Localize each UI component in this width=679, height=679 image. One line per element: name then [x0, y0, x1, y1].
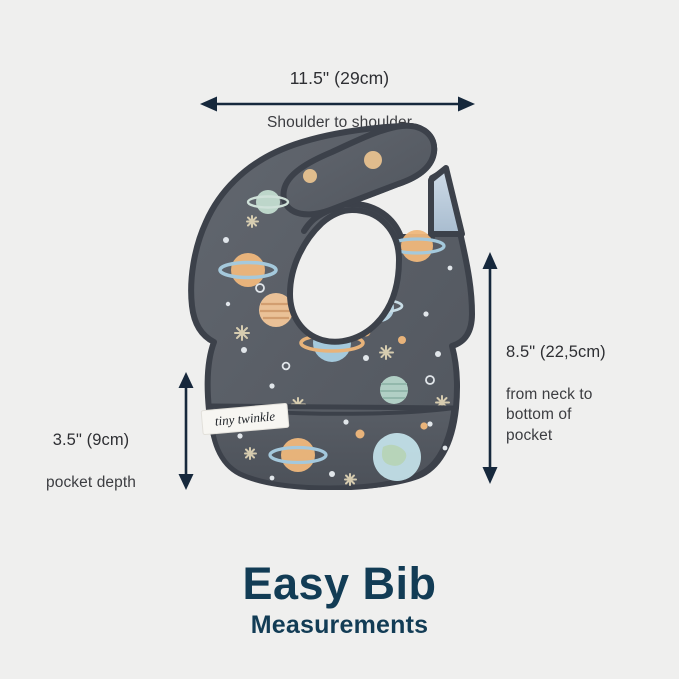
pocket-depth-dimension-label: 3.5" (9cm) pocket depth	[10, 410, 172, 514]
product-title: Easy Bib	[0, 560, 679, 607]
neck-to-pocket-dimension-label: 8.5" (22,5cm) from neck to bottom of poc…	[506, 322, 666, 466]
pocket-depth-dimension-description: pocket depth	[10, 473, 172, 493]
infographic-canvas: 11.5" (29cm) Shoulder to shoulder 8.5" (…	[0, 0, 679, 679]
neck-to-pocket-dimension-description: from neck to bottom of pocket	[506, 385, 666, 446]
velcro-flap	[431, 168, 462, 234]
neck-to-pocket-dimension-value: 8.5" (22,5cm)	[506, 342, 666, 364]
product-subtitle: Measurements	[0, 611, 679, 640]
title-block: Easy Bib Measurements	[0, 560, 679, 640]
shoulder-to-shoulder-arrow-icon	[200, 92, 475, 116]
pocket-depth-dimension-value: 3.5" (9cm)	[10, 430, 172, 452]
baby-bib-illustration: tiny twinkle	[180, 118, 490, 490]
shoulder-dimension-value: 11.5" (29cm)	[0, 67, 679, 90]
